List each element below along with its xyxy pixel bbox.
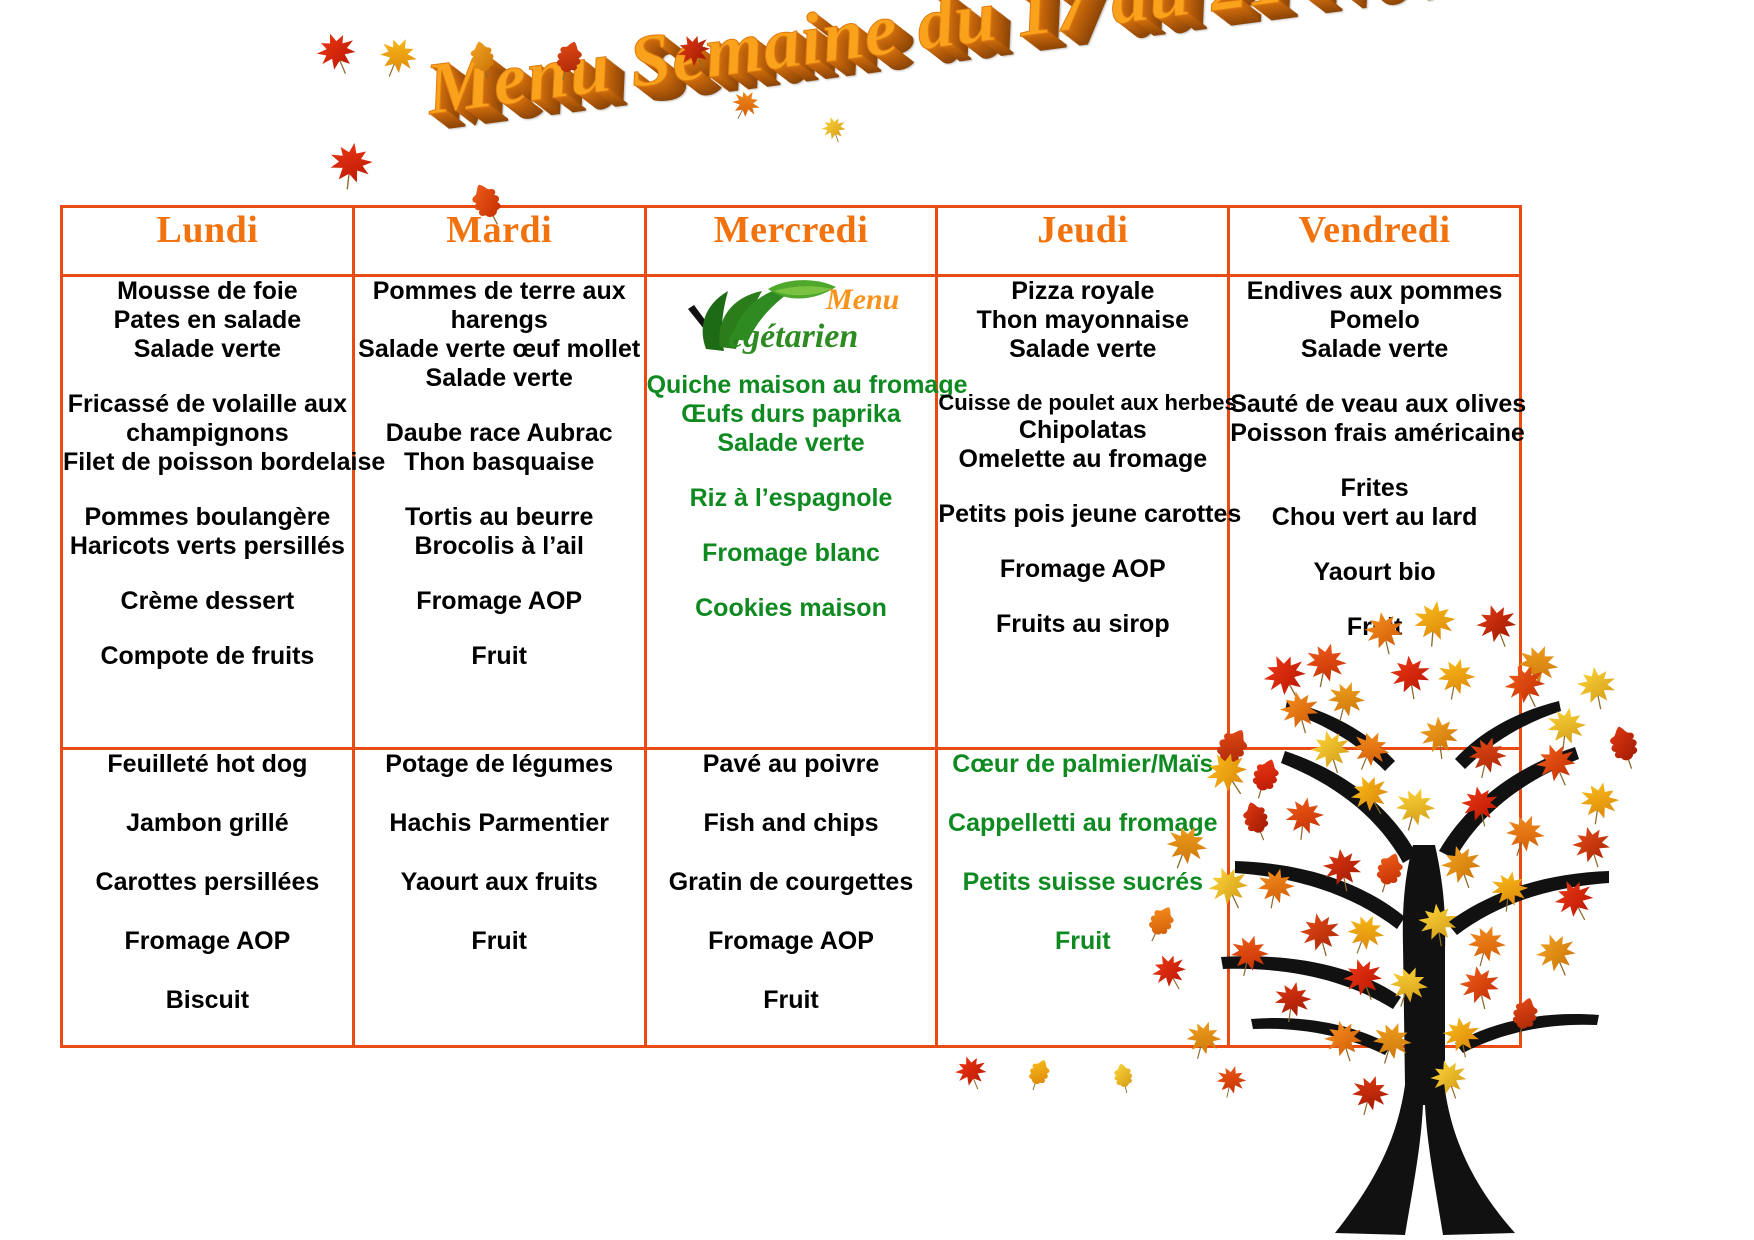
menu-item-group: Fruit	[1230, 613, 1519, 642]
menu-item: Gratin de courgettes	[647, 868, 936, 897]
menu-item: Salade verte	[1230, 335, 1519, 364]
menu-item: Hachis Parmentier	[355, 809, 644, 838]
menu-item: Salade verte œuf mollet	[355, 335, 644, 364]
menu-item-group: FritesChou vert au lard	[1230, 474, 1519, 532]
menu-item-group: Quiche maison au fromageŒufs durs paprik…	[647, 371, 936, 458]
menu-item: Salade verte	[355, 364, 644, 393]
lunch-cell-vendredi: Endives aux pommesPomeloSalade verteSaut…	[1229, 276, 1521, 749]
lunch-cell-lundi: Mousse de foiePates en saladeSalade vert…	[62, 276, 354, 749]
leaf	[551, 38, 586, 83]
menu-item: Salade verte	[63, 335, 352, 364]
page-title: Menu Semaine du 17 au 21 Novembre	[422, 0, 1286, 133]
menu-item-group: Biscuit	[63, 986, 352, 1015]
menu-item-group: Fruit	[355, 642, 644, 671]
menu-item: Fromage AOP	[63, 927, 352, 956]
leaf	[1606, 723, 1643, 772]
menu-item: Fromage blanc	[647, 539, 936, 568]
menu-item: Pavé au poivre	[647, 750, 936, 779]
menu-item-group: Fromage AOP	[647, 927, 936, 956]
menu-item: Thon mayonnaise	[938, 306, 1227, 335]
day-header-mardi: Mardi	[353, 207, 645, 276]
menu-item: Sauté de veau aux olives	[1230, 390, 1519, 419]
leaf	[1427, 1055, 1472, 1103]
menu-item: Poisson frais américaine	[1230, 419, 1519, 448]
lunch-row: Mousse de foiePates en saladeSalade vert…	[62, 276, 1521, 749]
menu-item-group: Tortis au beurreBrocolis à l’ail	[355, 503, 644, 561]
leaf	[819, 114, 849, 146]
menu-item: Fromage AOP	[938, 555, 1227, 584]
menu-item-group: Yaourt aux fruits	[355, 868, 644, 897]
menu-item: Riz à l’espagnole	[647, 484, 936, 513]
menu-item: Potage de légumes	[355, 750, 644, 779]
menu-item-group: Gratin de courgettes	[647, 868, 936, 897]
menu-item: harengs	[355, 306, 644, 335]
menu-item-group: Fromage AOP	[938, 555, 1227, 584]
menu-item-group: Hachis Parmentier	[355, 809, 644, 838]
lunch-cell-jeudi: Pizza royaleThon mayonnaiseSalade verteC…	[937, 276, 1229, 749]
menu-item: Pommes boulangère	[63, 503, 352, 532]
leaf	[1212, 1062, 1249, 1101]
menu-item: Crème dessert	[63, 587, 352, 616]
menu-item: Thon basquaise	[355, 448, 644, 477]
menu-item: Cœur de palmier/Maïs	[938, 750, 1227, 779]
menu-item: Fromage AOP	[647, 927, 936, 956]
menu-item: Omelette au fromage	[938, 445, 1227, 474]
menu-item: Pomelo	[1230, 306, 1519, 335]
menu-title-banner: Menu Semaine du 17 au 21 Novembre	[422, 0, 1292, 177]
menu-item: Cappelletti au fromage	[938, 809, 1227, 838]
leaf	[725, 85, 764, 125]
dinner-cell-mardi: Potage de légumesHachis ParmentierYaourt…	[353, 749, 645, 1047]
menu-item: Salade verte	[647, 429, 936, 458]
menu-item: Œufs durs paprika	[647, 400, 936, 429]
leaf	[672, 28, 718, 76]
menu-item-group: Pommes boulangèreHaricots verts persillé…	[63, 503, 352, 561]
menu-item: Fruits au sirop	[938, 610, 1227, 639]
menu-item: Petits pois jeune carottes	[938, 500, 1227, 529]
leaf	[1543, 704, 1588, 753]
menu-item: Fish and chips	[647, 809, 936, 838]
menu-item: Feuilleté hot dog	[63, 750, 352, 779]
leaf	[1024, 1057, 1053, 1094]
day-header-lundi: Lundi	[62, 207, 354, 276]
menu-vegetarien-logo: Menuégétarien	[647, 279, 936, 357]
menu-item: Petits suisse sucrés	[938, 868, 1227, 897]
menu-item-group: Yaourt bio	[1230, 558, 1519, 587]
menu-item-group: Cuisse de poulet aux herbesChipolatasOme…	[938, 390, 1227, 474]
menu-item: Pommes de terre aux	[355, 277, 644, 306]
menu-item-group: Sauté de veau aux olivesPoisson frais am…	[1230, 390, 1519, 448]
menu-item: Chipolatas	[938, 416, 1227, 445]
menu-item-group: Daube race AubracThon basquaise	[355, 419, 644, 477]
menu-item: Mousse de foie	[63, 277, 352, 306]
menu-item-group: Petits suisse sucrés	[938, 868, 1227, 897]
table-header-row: Lundi Mardi Mercredi Jeudi Vendredi	[62, 207, 1521, 276]
menu-item-group: Carottes persillées	[63, 868, 352, 897]
menu-item: Tortis au beurre	[355, 503, 644, 532]
menu-item-group: Fruit	[938, 927, 1227, 956]
dinner-cell-jeudi: Cœur de palmier/MaïsCappelletti au froma…	[937, 749, 1229, 1047]
menu-item: Compote de fruits	[63, 642, 352, 671]
menu-item: Yaourt bio	[1230, 558, 1519, 587]
svg-text:Menu: Menu	[825, 283, 899, 316]
menu-item-group: Petits pois jeune carottes	[938, 500, 1227, 529]
menu-item: Carottes persillées	[63, 868, 352, 897]
menu-item: Salade verte	[938, 335, 1227, 364]
dinner-row: Feuilleté hot dogJambon grilléCarottes p…	[62, 749, 1521, 1047]
menu-item: Quiche maison au fromage	[647, 371, 936, 400]
menu-item-group: Jambon grillé	[63, 809, 352, 838]
menu-item-group: Mousse de foiePates en saladeSalade vert…	[63, 277, 352, 364]
leaf	[372, 31, 423, 84]
leaf	[1531, 738, 1583, 793]
menu-item-group: Fish and chips	[647, 809, 936, 838]
menu-item: Biscuit	[63, 986, 352, 1015]
menu-item-group: Crème dessert	[63, 587, 352, 616]
leaf	[952, 1052, 992, 1095]
menu-item: Yaourt aux fruits	[355, 868, 644, 897]
menu-item-group: Cappelletti au fromage	[938, 809, 1227, 838]
leaf	[1575, 664, 1619, 712]
falling-leaves-bottom	[920, 1035, 1340, 1145]
menu-item-group: Pavé au poivre	[647, 750, 936, 779]
menu-item: Chou vert au lard	[1230, 503, 1519, 532]
menu-item-group: Fruits au sirop	[938, 610, 1227, 639]
menu-item-group: Riz à l’espagnole	[647, 484, 936, 513]
lunch-cell-mardi: Pommes de terre auxharengsSalade verte œ…	[353, 276, 645, 749]
menu-item: champignons	[63, 419, 352, 448]
day-header-mercredi: Mercredi	[645, 207, 937, 276]
menu-item-group: Fromage blanc	[647, 539, 936, 568]
weekly-menu-table: Lundi Mardi Mercredi Jeudi Vendredi Mous…	[60, 205, 1522, 1048]
leaf	[312, 27, 363, 80]
menu-item: Frites	[1230, 474, 1519, 503]
menu-item-group: Fruit	[355, 927, 644, 956]
menu-item-group: Potage de légumes	[355, 750, 644, 779]
menu-item: Daube race Aubrac	[355, 419, 644, 448]
leaf	[1576, 778, 1623, 828]
day-header-vendredi: Vendredi	[1229, 207, 1521, 276]
leaf	[1112, 1062, 1135, 1095]
leaf	[1346, 1070, 1394, 1120]
menu-item: Fruit	[1230, 613, 1519, 642]
svg-text:égétarien: égétarien	[728, 318, 858, 355]
menu-item: Cuisse de poulet aux herbes	[938, 390, 1227, 416]
menu-item-group: Compote de fruits	[63, 642, 352, 671]
menu-item: Haricots verts persillés	[63, 532, 352, 561]
menu-item-group: Fricassé de volaille auxchampignonsFilet…	[63, 390, 352, 477]
menu-item: Pizza royale	[938, 277, 1227, 306]
dinner-cell-mercredi: Pavé au poivreFish and chipsGratin de co…	[645, 749, 937, 1047]
menu-item: Fromage AOP	[355, 587, 644, 616]
lunch-cell-mercredi: MenuégétarienQuiche maison au fromageŒuf…	[645, 276, 937, 749]
menu-item: Fruit	[647, 986, 936, 1015]
menu-item: Jambon grillé	[63, 809, 352, 838]
menu-item: Fruit	[355, 642, 644, 671]
leaf	[468, 39, 498, 81]
menu-item: Pates en salade	[63, 306, 352, 335]
menu-item: Fricassé de volaille aux	[63, 390, 352, 419]
leaf	[1569, 822, 1616, 872]
dinner-cell-vendredi	[1229, 749, 1521, 1047]
menu-item-group: Pizza royaleThon mayonnaiseSalade verte	[938, 277, 1227, 364]
menu-item-group: Fruit	[647, 986, 936, 1015]
menu-item: Fruit	[938, 927, 1227, 956]
menu-item-group: Fromage AOP	[63, 927, 352, 956]
menu-item-group: Feuilleté hot dog	[63, 750, 352, 779]
leaf	[1549, 873, 1602, 928]
leaf	[1531, 928, 1583, 983]
menu-item: Cookies maison	[647, 594, 936, 623]
day-header-jeudi: Jeudi	[937, 207, 1229, 276]
menu-item-group: Fromage AOP	[355, 587, 644, 616]
menu-item: Endives aux pommes	[1230, 277, 1519, 306]
menu-item: Fruit	[355, 927, 644, 956]
menu-item-group: Pommes de terre auxharengsSalade verte œ…	[355, 277, 644, 393]
dinner-cell-lundi: Feuilleté hot dogJambon grilléCarottes p…	[62, 749, 354, 1047]
menu-item: Filet de poisson bordelaise	[63, 448, 352, 477]
menu-item-group: Cookies maison	[647, 594, 936, 623]
menu-item: Brocolis à l’ail	[355, 532, 644, 561]
menu-item-group: Endives aux pommesPomeloSalade verte	[1230, 277, 1519, 364]
menu-item-group: Cœur de palmier/Maïs	[938, 750, 1227, 779]
leaf	[326, 139, 376, 193]
